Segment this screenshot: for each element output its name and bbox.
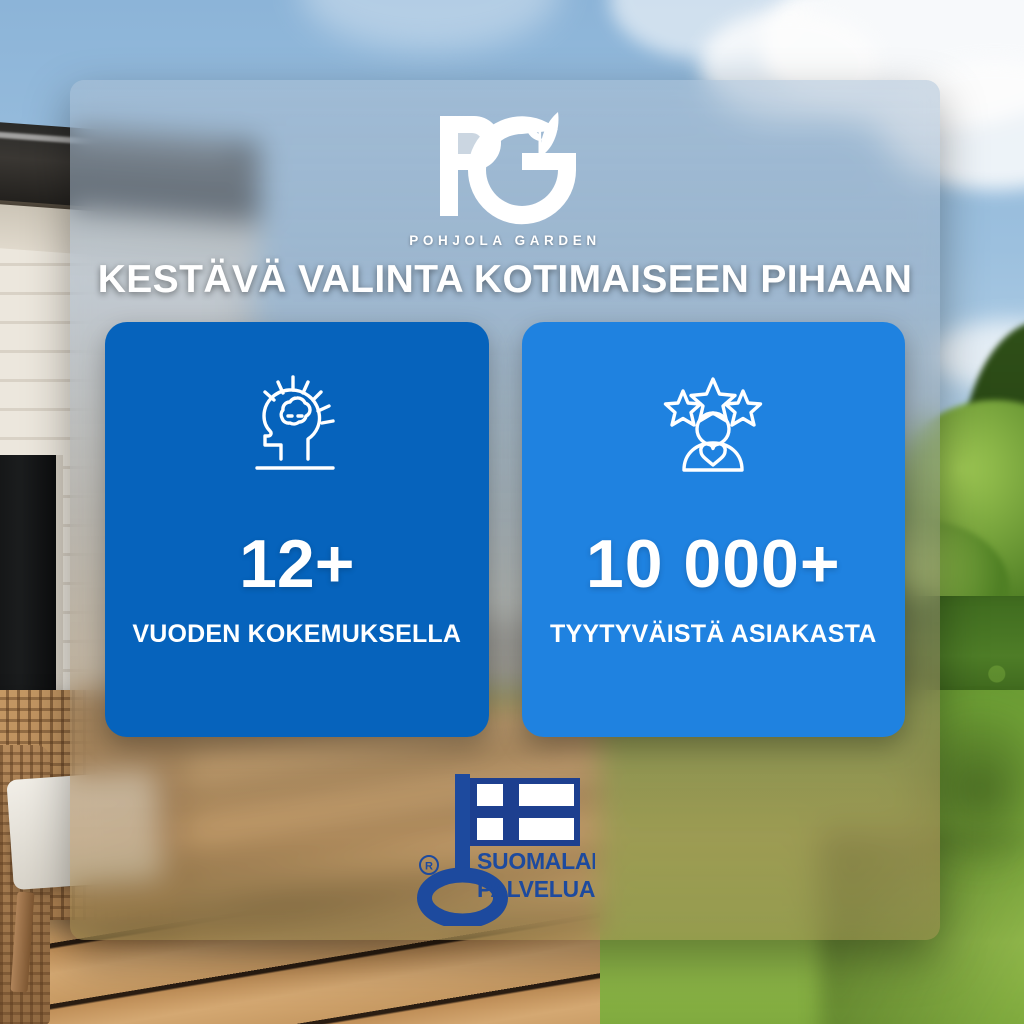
brand-name: POHJOLA GARDEN	[70, 233, 940, 248]
frosted-overlay-panel: POHJOLA GARDEN KESTÄVÄ VALINTA KOTIMAISE…	[70, 80, 940, 940]
person-heart-three-stars-icon	[661, 366, 765, 484]
stat-label: TYYTYVÄISTÄ ASIAKASTA	[550, 620, 876, 649]
promo-graphic: POHJOLA GARDEN KESTÄVÄ VALINTA KOTIMAISE…	[0, 0, 1024, 1024]
stat-card-experience[interactable]: 12+ VUODEN KOKEMUKSELLA	[105, 322, 489, 737]
svg-text:R: R	[425, 861, 433, 873]
stat-cards: 12+ VUODEN KOKEMUKSELLA	[105, 322, 905, 737]
page-title: KESTÄVÄ VALINTA KOTIMAISEEN PIHAAN	[70, 258, 940, 302]
brand-logo: POHJOLA GARDEN	[70, 108, 940, 248]
stat-number: 10 000+	[586, 530, 841, 598]
stat-card-customers[interactable]: 10 000+ TYYTYVÄISTÄ ASIAKASTA	[522, 322, 906, 737]
badge-line-2: PALVELUA	[477, 876, 595, 902]
finnish-key-flag-icon: R SUOMALAISTA PALVELUA	[415, 766, 595, 926]
head-brain-idea-icon	[245, 366, 349, 484]
pg-leaf-monogram-icon	[430, 108, 580, 226]
registered-mark-icon: R	[420, 856, 438, 874]
badge-line-1: SUOMALAISTA	[477, 848, 595, 874]
stat-number: 12+	[239, 530, 354, 598]
finnish-key-flag-badge[interactable]: R SUOMALAISTA PALVELUA	[70, 766, 940, 926]
stat-label: VUODEN KOKEMUKSELLA	[132, 620, 461, 649]
